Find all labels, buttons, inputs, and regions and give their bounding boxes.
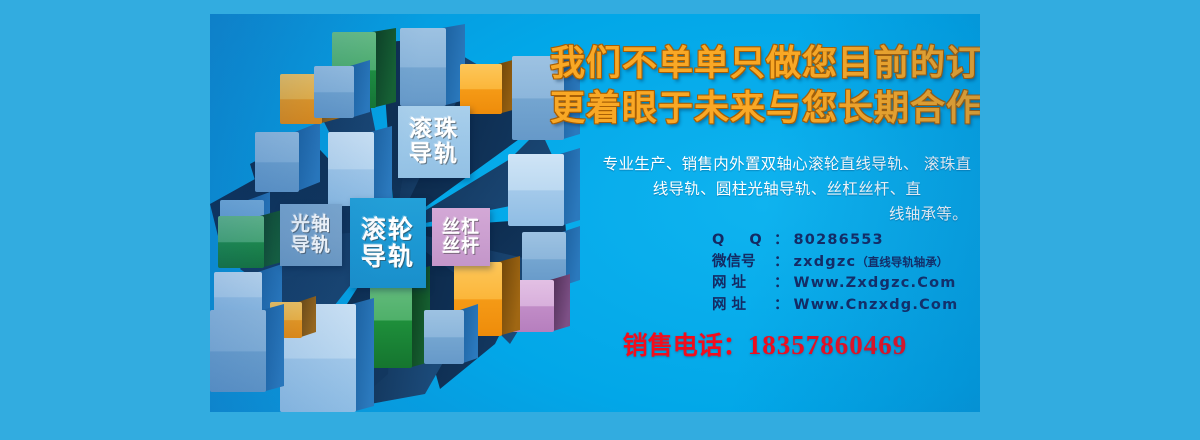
chip-guangzhou-line2: 导轨: [291, 235, 331, 256]
description-line-1: 专业生产、销售内外置双轴心滚轮直线导轨、: [603, 155, 919, 173]
sales-phone: 销售电话：18357860469: [550, 326, 980, 362]
contact-colon-qq: ：: [774, 230, 789, 252]
contact-colon-wechat: ：: [774, 252, 789, 274]
chip-gunlun-line2: 导轨: [361, 243, 415, 270]
chip-sigang-line2: 丝杆: [442, 237, 480, 256]
description: 专业生产、销售内外置双轴心滚轮直线导轨、 滚珠直线导轨、圆柱光轴导轨、丝杠丝杆、…: [602, 152, 972, 227]
chip-gunzhu-line1: 滚珠: [409, 117, 459, 142]
chip-guangzhou-line1: 光轴: [291, 214, 331, 235]
chip-gunzhu-line2: 导轨: [409, 142, 459, 167]
description-line-3: 线轴承等。: [602, 202, 972, 227]
promo-banner: 滚珠 导轨 光轴 导轨 滚轮 导轨 丝杠 丝杆 我们不单单只做您目前的订单 更着…: [210, 14, 980, 412]
chip-gunlun-daogui: 滚轮 导轨: [350, 198, 426, 288]
headline-line-2: 更着眼于未来与您长期合作: [550, 87, 980, 132]
contact-colon-website-1: ：: [774, 273, 789, 295]
chip-sigang-line1: 丝杠: [442, 218, 480, 237]
contact-colon-website-2: ：: [774, 295, 789, 317]
contact-row-wechat: 微信号 ： zxdgzc （直线导轨轴承）: [712, 252, 980, 274]
contact-value-qq[interactable]: 80286553: [794, 230, 884, 252]
headline-line-1: 我们不单单只做您目前的订单: [550, 44, 980, 84]
chip-guangzhou-daogui: 光轴 导轨: [280, 204, 342, 266]
contact-label-qq: Q Q: [712, 230, 774, 252]
contact-label-website-1: 网 址: [712, 273, 774, 295]
cube-cluster-artwork: 滚珠 导轨 光轴 导轨 滚轮 导轨 丝杠 丝杆: [210, 14, 580, 412]
sales-phone-label: 销售电话：: [623, 331, 748, 360]
chip-gunlun-line1: 滚轮: [361, 216, 415, 243]
banner-copy: 我们不单单只做您目前的订单 更着眼于未来与您长期合作 专业生产、销售内外置双轴心…: [550, 14, 980, 412]
contact-label-wechat: 微信号: [712, 252, 774, 274]
contact-block: Q Q ： 80286553 微信号 ： zxdgzc （直线导轨轴承） 网 址…: [712, 230, 980, 316]
banner-page: 滚珠 导轨 光轴 导轨 滚轮 导轨 丝杠 丝杆 我们不单单只做您目前的订单 更着…: [0, 0, 1200, 440]
contact-value-wechat[interactable]: zxdgzc: [794, 252, 857, 274]
contact-value-website-2[interactable]: Www.Cnzxdg.Com: [794, 295, 959, 317]
headline: 我们不单单只做您目前的订单 更着眼于未来与您长期合作: [550, 42, 980, 132]
contact-label-website-2: 网 址: [712, 295, 774, 317]
contact-row-website-1: 网 址 ： Www.Zxdgzc.Com: [712, 273, 980, 295]
contact-row-website-2: 网 址 ： Www.Cnzxdg.Com: [712, 295, 980, 317]
contact-row-qq: Q Q ： 80286553: [712, 230, 980, 252]
sales-phone-number[interactable]: 18357860469: [748, 330, 908, 360]
chip-gunzhu-daogui: 滚珠 导轨: [398, 106, 470, 178]
chip-sigang-sigan: 丝杠 丝杆: [432, 208, 490, 266]
contact-value-website-1[interactable]: Www.Zxdgzc.Com: [794, 273, 957, 295]
contact-note-wechat: （直线导轨轴承）: [856, 252, 948, 274]
